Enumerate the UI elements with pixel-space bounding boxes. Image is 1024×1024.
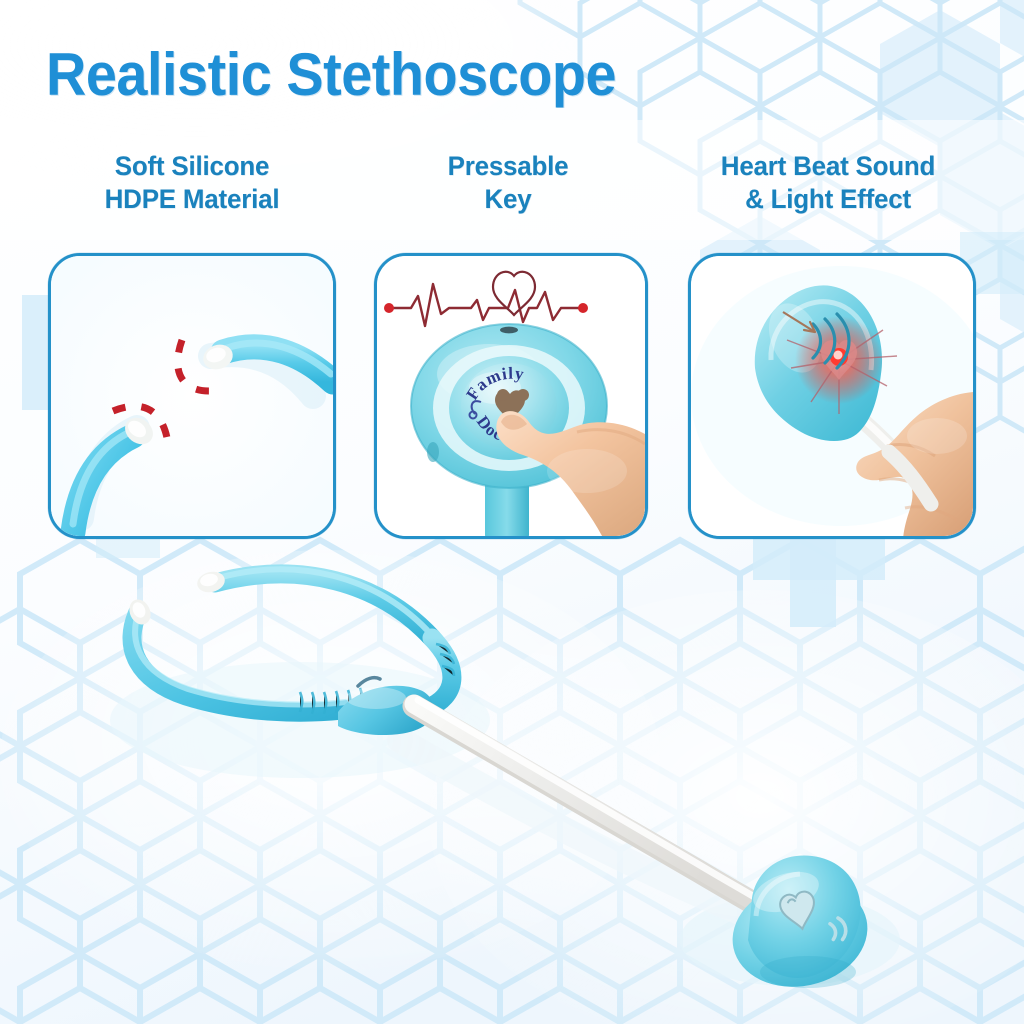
feature-2-image-panel: Family Doctor: [374, 253, 648, 539]
product-infographic-poster: Realistic Stethoscope Soft Silicone HDPE…: [0, 0, 1024, 1024]
feature-1-label-line2: HDPE Material: [48, 183, 336, 216]
feature-3-label-line2: & Light Effect: [684, 183, 972, 216]
hero-product-photo: [0, 520, 1024, 1024]
page-title: Realistic Stethoscope: [46, 44, 616, 106]
feature-1-label-line1: Soft Silicone: [115, 151, 269, 181]
feature-2-label: Pressable Key: [374, 150, 643, 216]
feature-3-label: Heart Beat Sound & Light Effect: [684, 150, 972, 216]
feature-pressable-key: Pressable Key: [368, 150, 648, 216]
feature-3-image-panel: [688, 253, 976, 539]
feature-2-label-line2: Key: [374, 183, 643, 216]
feature-soft-silicone: Soft Silicone HDPE Material: [42, 150, 342, 216]
feature-2-label-line1: Pressable: [448, 151, 569, 181]
feature-3-label-line1: Heart Beat Sound: [721, 151, 935, 181]
feature-row: Soft Silicone HDPE Material: [0, 150, 1024, 550]
feature-1-image-panel: [48, 253, 336, 539]
feature-heartbeat-sound-light: Heart Beat Sound & Light Effect: [678, 150, 978, 216]
feature-1-label: Soft Silicone HDPE Material: [48, 150, 336, 216]
